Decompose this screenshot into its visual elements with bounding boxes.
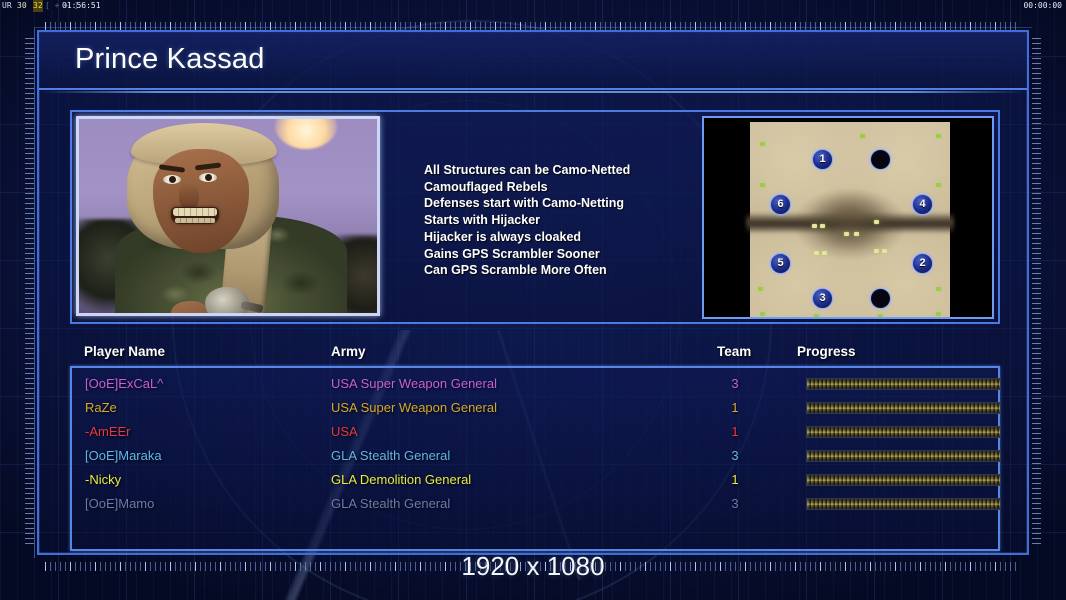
status-value-ping: 32 [33, 0, 43, 12]
column-header-team: Team [717, 344, 751, 359]
table-row[interactable]: -NickyGLA Demolition General1 [72, 468, 998, 492]
player-army-cell: GLA Demolition General [331, 468, 471, 492]
map-preview-image: 164523 [750, 122, 950, 318]
player-progress-bar [806, 450, 1001, 462]
player-progress-bar [806, 498, 1001, 510]
player-team-cell: 3 [724, 372, 746, 396]
map-tech-building-icon [760, 312, 765, 316]
map-spawn-point-5[interactable]: 5 [770, 253, 791, 274]
map-supply-icon [822, 251, 827, 255]
player-army-cell: GLA Stealth General [331, 492, 450, 516]
column-header-player-name: Player Name [84, 344, 165, 359]
page-title: Prince Kassad [75, 43, 265, 76]
map-spawn-point-3[interactable]: 3 [812, 288, 833, 309]
player-team-cell: 3 [724, 444, 746, 468]
player-name-cell: [OoE]ExCaL^ [85, 372, 163, 396]
ability-item: Gains GPS Scrambler Sooner [424, 246, 724, 263]
ruler-left [25, 38, 34, 548]
map-tech-building-icon [758, 287, 763, 291]
map-spawn-point-empty[interactable] [870, 288, 891, 309]
player-army-cell: USA Super Weapon General [331, 372, 497, 396]
player-name-cell: [OoE]Mamo [85, 492, 154, 516]
player-progress-fill [807, 379, 1000, 389]
map-tech-building-icon [814, 314, 819, 318]
player-army-cell: GLA Stealth General [331, 444, 450, 468]
column-header-progress: Progress [797, 344, 856, 359]
portrait-teeth-upper [173, 208, 217, 216]
player-progress-fill [807, 499, 1000, 509]
general-info-frame: Prince Kassad [37, 30, 1029, 555]
player-name-cell: -AmEEr [85, 420, 131, 444]
player-army-cell: USA [331, 420, 358, 444]
player-team-cell: 3 [724, 492, 746, 516]
title-bar: Prince Kassad [39, 32, 1027, 90]
map-spawn-point-1[interactable]: 1 [812, 149, 833, 170]
map-supply-icon [874, 249, 879, 253]
map-center-basin [790, 181, 910, 263]
map-tech-building-icon [878, 314, 883, 318]
map-tech-building-icon [760, 183, 765, 187]
map-spawn-point-2[interactable]: 2 [912, 253, 933, 274]
map-tech-building-icon [760, 142, 765, 146]
player-army-cell: USA Super Weapon General [331, 396, 497, 420]
map-supply-icon [874, 220, 879, 224]
player-team-cell: 1 [724, 396, 746, 420]
column-header-army: Army [331, 344, 366, 359]
map-supply-icon [820, 224, 825, 228]
general-abilities-list: All Structures can be Camo-Netted Camouf… [424, 162, 724, 279]
table-row[interactable]: [OoE]MamoGLA Stealth General3 [72, 492, 998, 516]
ability-item: Starts with Hijacker [424, 212, 724, 229]
ability-item: Camouflaged Rebels [424, 179, 724, 196]
map-supply-icon [814, 251, 819, 255]
player-progress-bar [806, 378, 1001, 390]
status-value-fps: 30 [17, 0, 27, 12]
ability-item: Defenses start with Camo-Netting [424, 195, 724, 212]
player-table-header: Player Name Army Team Progress [75, 344, 965, 364]
portrait-hand [171, 301, 207, 316]
player-name-cell: -Nicky [85, 468, 121, 492]
player-name-cell: RaZe [85, 396, 117, 420]
player-team-cell: 1 [724, 420, 746, 444]
player-progress-fill [807, 475, 1000, 485]
player-progress-fill [807, 451, 1000, 461]
player-team-cell: 1 [724, 468, 746, 492]
general-portrait-frame [76, 116, 380, 316]
player-progress-fill [807, 403, 1000, 413]
map-tech-building-icon [936, 287, 941, 291]
portrait-pupil-right [205, 174, 212, 181]
map-tech-building-icon [936, 134, 941, 138]
status-clock-left: 01:56:51 [62, 0, 101, 12]
ability-item: All Structures can be Camo-Netted [424, 162, 724, 179]
map-preview-frame: 164523 [702, 116, 994, 319]
table-row[interactable]: [OoE]ExCaL^USA Super Weapon General3 [72, 372, 998, 396]
portrait-teeth-lower [175, 218, 215, 223]
table-row[interactable]: -AmEErUSA1 [72, 420, 998, 444]
map-tech-building-icon [860, 134, 865, 138]
portrait-pupil-left [169, 176, 176, 183]
player-progress-bar [806, 474, 1001, 486]
status-label-ur: UR [2, 0, 12, 12]
map-spawn-point-empty[interactable] [870, 149, 891, 170]
ability-item: Hijacker is always cloaked [424, 229, 724, 246]
map-supply-icon [812, 224, 817, 228]
ruler-right [1032, 38, 1041, 548]
top-status-bar: UR 30 32 [ + + ] 01:56:51 00:00:00 [0, 0, 1066, 12]
portrait-nose [179, 183, 199, 209]
map-tech-building-icon [936, 183, 941, 187]
general-info-panel: All Structures can be Camo-Netted Camouf… [70, 110, 1000, 324]
map-supply-icon [882, 249, 887, 253]
player-table-panel: [OoE]ExCaL^USA Super Weapon General3RaZe… [70, 366, 1000, 551]
general-portrait-image [79, 119, 377, 313]
player-progress-bar [806, 426, 1001, 438]
map-tech-building-icon [936, 312, 941, 316]
table-row[interactable]: [OoE]MarakaGLA Stealth General3 [72, 444, 998, 468]
player-progress-fill [807, 427, 1000, 437]
resolution-label: 1920 x 1080 [0, 551, 1066, 582]
map-supply-icon [844, 232, 849, 236]
ability-item: Can GPS Scramble More Often [424, 262, 724, 279]
table-row[interactable]: RaZeUSA Super Weapon General1 [72, 396, 998, 420]
status-clock-right: 00:00:00 [1023, 0, 1062, 12]
player-name-cell: [OoE]Maraka [85, 444, 162, 468]
map-supply-icon [854, 232, 859, 236]
player-progress-bar [806, 402, 1001, 414]
